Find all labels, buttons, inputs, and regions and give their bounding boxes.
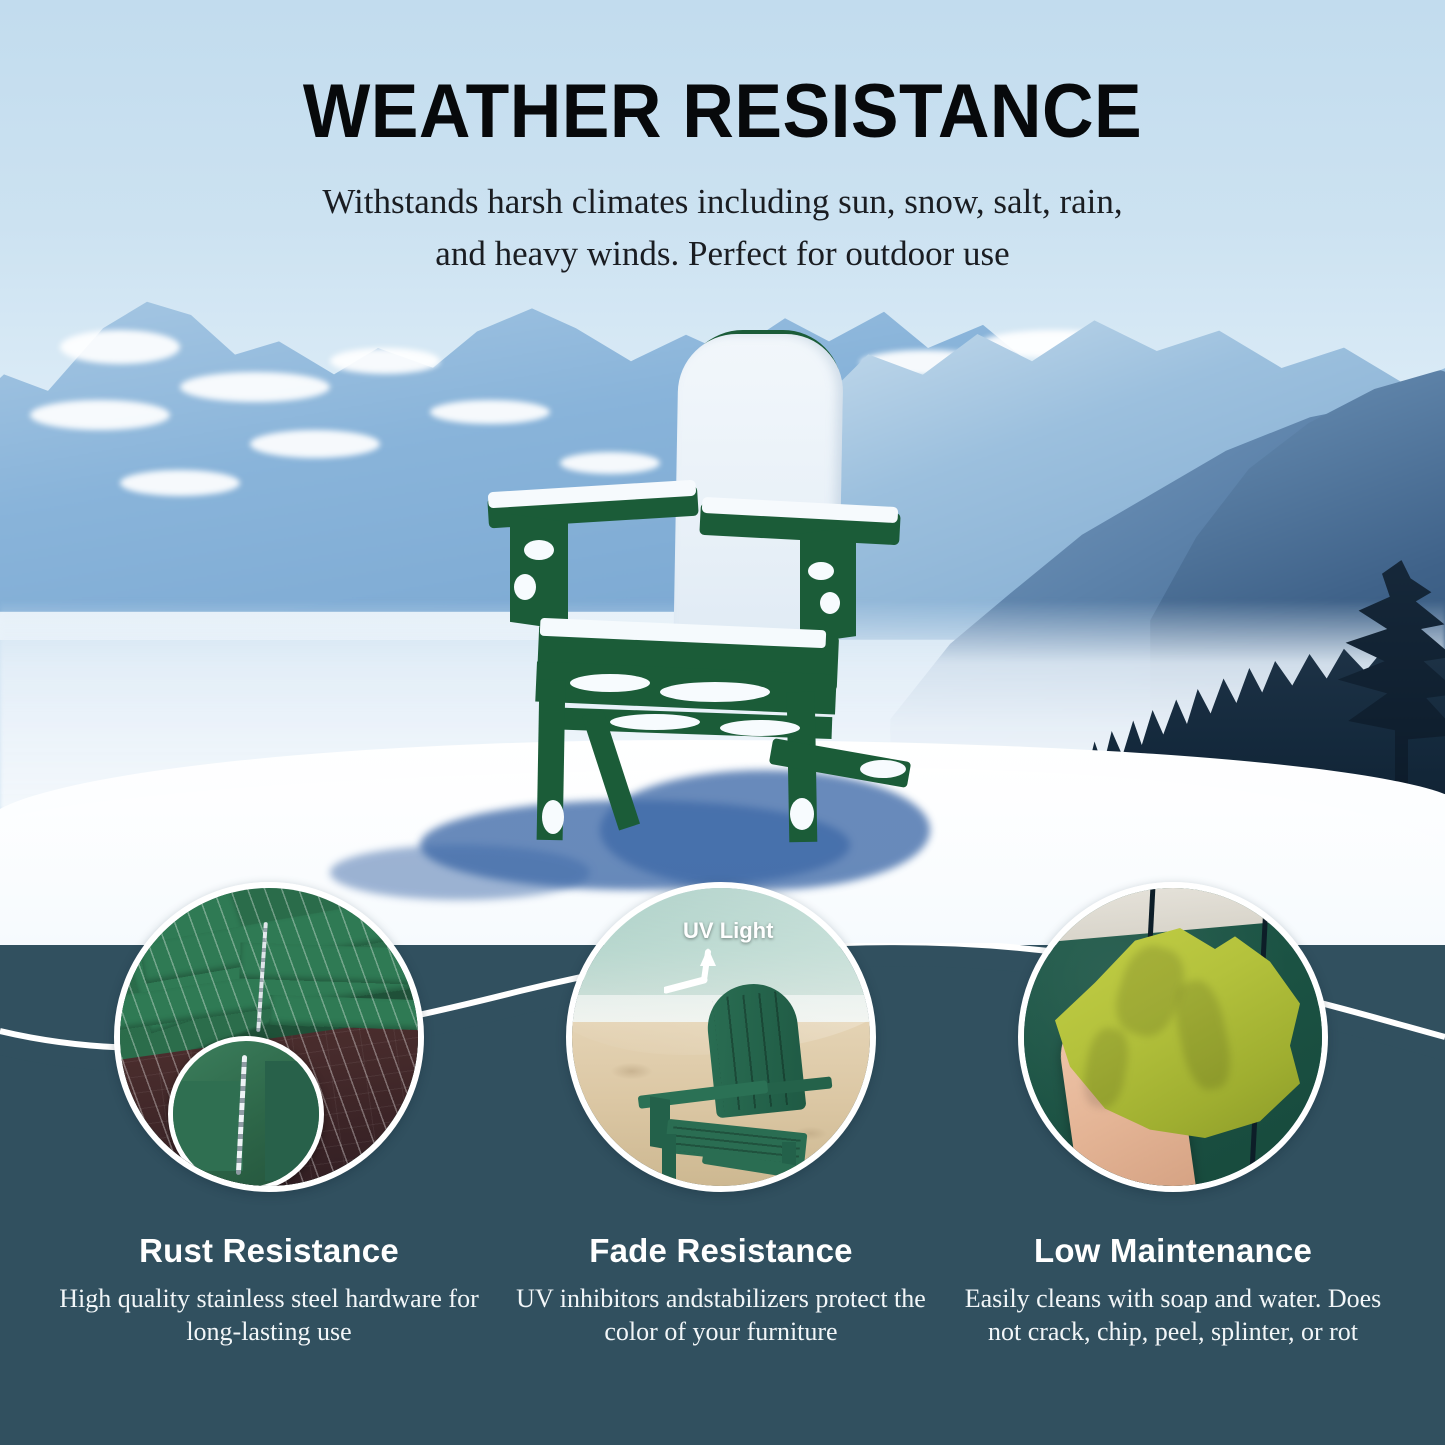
- snow-speck: [860, 760, 906, 778]
- snow-speck: [790, 798, 814, 830]
- feature-title: Rust Resistance: [59, 1232, 479, 1270]
- snow-patch: [30, 400, 170, 430]
- feature-image-rust-resistance: [114, 882, 424, 1192]
- chair-right-arm-support: [800, 526, 856, 644]
- feature-text-rust-resistance: Rust Resistance High quality stainless s…: [59, 1232, 479, 1348]
- snow-speck: [524, 540, 554, 560]
- feature-text-low-maintenance: Low Maintenance Easily cleans with soap …: [963, 1232, 1383, 1348]
- screw-head: [1286, 1146, 1295, 1155]
- inset-plank: [265, 1061, 324, 1181]
- snow-speck: [610, 714, 700, 730]
- feature-description: UV inhibitors andstabilizers protect the…: [511, 1282, 931, 1348]
- page-title: WEATHER RESISTANCE: [43, 72, 1401, 152]
- feature-image-fade-resistance: UV Light: [566, 882, 876, 1192]
- snow-patch: [180, 372, 330, 402]
- hero-adirondack-chair: [470, 330, 920, 840]
- snow-patch: [250, 430, 380, 458]
- feature-image-low-maintenance: [1018, 882, 1328, 1192]
- page-subtitle: Withstands harsh climates including sun,…: [0, 176, 1445, 280]
- snow-speck: [660, 682, 770, 702]
- snow-speck: [542, 800, 564, 834]
- feature-description: High quality stainless steel hardware fo…: [59, 1282, 479, 1348]
- beach-adirondack-chair: [632, 984, 842, 1184]
- chair-left-arm-support: [510, 514, 568, 630]
- feature-text-fade-resistance: Fade Resistance UV inhibitors andstabili…: [511, 1232, 931, 1348]
- snow-speck: [570, 674, 650, 692]
- inset-plank: [168, 1081, 243, 1171]
- subtitle-line-2: and heavy winds. Perfect for outdoor use: [0, 228, 1445, 280]
- snow-patch: [330, 348, 440, 374]
- snow-patch: [120, 470, 240, 496]
- uv-light-label: UV Light: [683, 918, 773, 944]
- snow-speck: [720, 720, 800, 736]
- feature-title: Low Maintenance: [963, 1232, 1383, 1270]
- subtitle-line-1: Withstands harsh climates including sun,…: [0, 176, 1445, 228]
- infographic-poster: WEATHER RESISTANCE Withstands harsh clim…: [0, 0, 1445, 1445]
- snow-speck: [808, 562, 834, 580]
- beach-chair-left-leg: [662, 1134, 676, 1186]
- snow-speck: [514, 574, 536, 600]
- feature-title: Fade Resistance: [511, 1232, 931, 1270]
- rust-inset-closeup: [168, 1036, 324, 1192]
- feature-description: Easily cleans with soap and water. Does …: [963, 1282, 1383, 1348]
- snow-speck: [820, 592, 840, 614]
- snow-patch: [60, 330, 180, 364]
